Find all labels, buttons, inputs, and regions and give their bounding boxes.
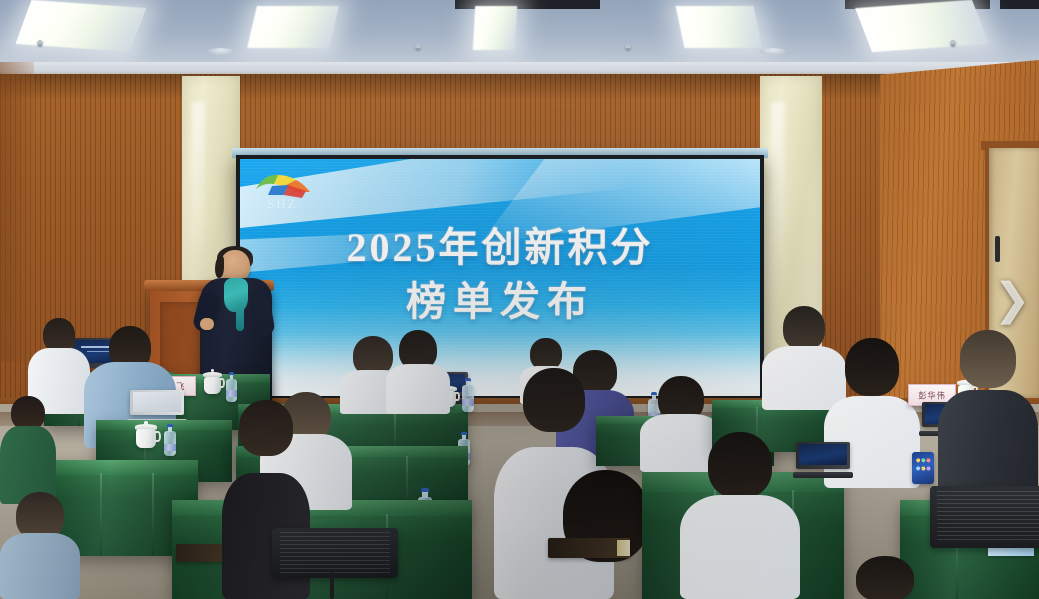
headline-line-2: 榜单发布	[240, 275, 760, 329]
teacup	[204, 372, 221, 395]
ceiling-light-panel	[473, 6, 517, 50]
speaker-hair-side	[215, 256, 224, 278]
led-video-wall: SHZ 2025年创新积分 榜单发布	[236, 155, 764, 401]
headline-line-1: 2025年创新积分	[240, 221, 760, 275]
teacup	[136, 424, 156, 450]
speaker-hand-left	[200, 318, 214, 330]
sprinkler-icon	[950, 40, 956, 46]
door-handle-icon[interactable]	[995, 236, 1000, 262]
smartphone-icon	[912, 452, 934, 484]
water-bottle	[164, 424, 176, 456]
left-wall-edge-shadow	[0, 62, 34, 362]
attendee-head	[856, 556, 914, 599]
sprinkler-icon	[415, 44, 421, 50]
attendee-head	[783, 306, 825, 350]
attendee-torso	[0, 533, 80, 599]
attendee-torso	[680, 495, 800, 599]
ceiling-light-panel	[247, 6, 339, 48]
attendee-head	[11, 396, 45, 430]
sprinkler-icon	[625, 44, 631, 50]
water-bottle	[462, 378, 474, 412]
attendee-torso	[386, 364, 450, 414]
presentation-slide: SHZ 2025年创新积分 榜单发布	[240, 159, 760, 396]
attendee	[938, 330, 1038, 502]
laptop	[130, 390, 184, 424]
ceiling-light-panel	[855, 0, 989, 52]
laptop	[796, 442, 850, 478]
attendee-head	[708, 432, 772, 498]
ceiling-speaker-icon	[760, 48, 786, 55]
attendee	[0, 492, 80, 599]
chair-leg	[330, 572, 334, 599]
attendee-head	[523, 368, 585, 432]
ceiling-light-panel	[15, 0, 146, 52]
attendee	[680, 432, 800, 599]
ceiling-speaker-icon	[208, 48, 234, 55]
attendee-head	[960, 330, 1016, 388]
slide-headline: 2025年创新积分 榜单发布	[240, 221, 760, 330]
chair	[930, 486, 1039, 548]
logo-text: SHZ	[267, 196, 298, 212]
photo-viewer: SHZ 2025年创新积分 榜单发布	[0, 0, 1039, 599]
attendee-head	[239, 400, 293, 456]
attendee-head	[845, 338, 899, 396]
attendee-head	[43, 318, 75, 352]
notebook	[548, 538, 630, 558]
attendee	[840, 556, 930, 599]
next-photo-button[interactable]: ❯	[995, 278, 1029, 322]
pinwheel-logo-icon: SHZ	[254, 169, 318, 213]
attendee	[0, 396, 56, 504]
water-bottle	[226, 372, 237, 402]
chair	[272, 528, 398, 578]
ceiling-light-panel	[676, 6, 763, 48]
sprinkler-icon	[37, 40, 43, 46]
attendee	[386, 330, 450, 414]
speaker-scarf-tail	[236, 303, 244, 331]
